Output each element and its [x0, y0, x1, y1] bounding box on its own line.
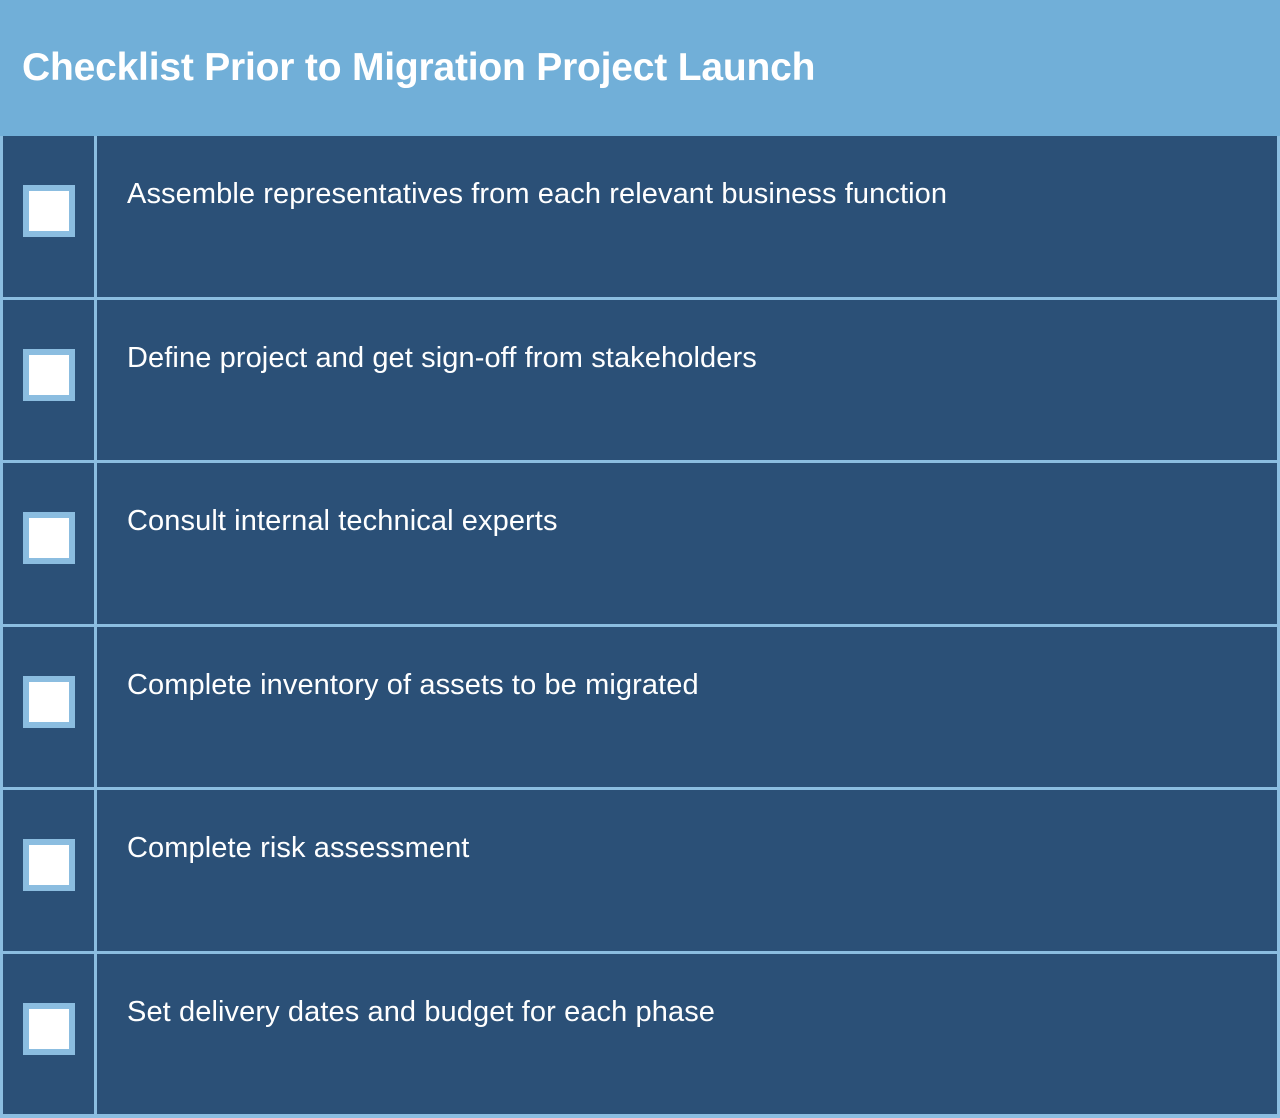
checklist-row: Complete risk assessment: [3, 790, 1277, 954]
checklist-item-label: Consult internal technical experts: [127, 503, 1259, 539]
checklist-item-label: Assemble representatives from each relev…: [127, 176, 1259, 212]
checkbox-icon[interactable]: [23, 676, 75, 728]
checkbox-icon[interactable]: [23, 349, 75, 401]
checkbox-icon[interactable]: [23, 839, 75, 891]
checklist-item-cell: Define project and get sign-off from sta…: [97, 300, 1277, 461]
checkbox-icon[interactable]: [23, 185, 75, 237]
page-title: Checklist Prior to Migration Project Lau…: [22, 48, 815, 89]
checklist-item-cell: Consult internal technical experts: [97, 463, 1277, 624]
card-header: Checklist Prior to Migration Project Lau…: [0, 0, 1280, 136]
checklist-item-label: Complete risk assessment: [127, 830, 1259, 866]
checklist-table: Assemble representatives from each relev…: [0, 136, 1280, 1118]
checklist-item-cell: Complete risk assessment: [97, 790, 1277, 951]
checklist-row: Complete inventory of assets to be migra…: [3, 627, 1277, 791]
checkbox-cell[interactable]: [3, 790, 97, 951]
checkbox-icon[interactable]: [23, 512, 75, 564]
checklist-row: Assemble representatives from each relev…: [3, 136, 1277, 300]
checklist-item-label: Define project and get sign-off from sta…: [127, 340, 1259, 376]
checkbox-cell[interactable]: [3, 627, 97, 788]
checklist-row: Consult internal technical experts: [3, 463, 1277, 627]
checkbox-cell[interactable]: [3, 954, 97, 1115]
checkbox-cell[interactable]: [3, 300, 97, 461]
checklist-item-cell: Assemble representatives from each relev…: [97, 136, 1277, 297]
checklist-item-cell: Complete inventory of assets to be migra…: [97, 627, 1277, 788]
checkbox-icon[interactable]: [23, 1003, 75, 1055]
checkbox-cell[interactable]: [3, 136, 97, 297]
checklist-item-label: Set delivery dates and budget for each p…: [127, 994, 1259, 1030]
checklist-row: Define project and get sign-off from sta…: [3, 300, 1277, 464]
checklist-row: Set delivery dates and budget for each p…: [3, 954, 1277, 1115]
checklist-item-label: Complete inventory of assets to be migra…: [127, 667, 1259, 703]
checkbox-cell[interactable]: [3, 463, 97, 624]
checklist-item-cell: Set delivery dates and budget for each p…: [97, 954, 1277, 1115]
checklist-card: Checklist Prior to Migration Project Lau…: [0, 0, 1280, 1118]
